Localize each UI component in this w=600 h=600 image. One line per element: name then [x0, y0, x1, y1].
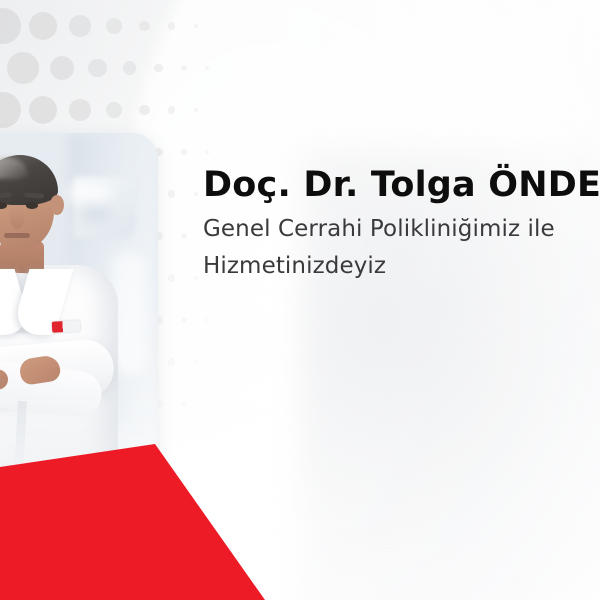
- decorative-dot: [106, 18, 122, 34]
- decorative-dot: [139, 21, 150, 32]
- decorative-dot: [181, 149, 187, 155]
- decorative-dot: [181, 401, 187, 407]
- decorative-dot: [181, 233, 187, 239]
- decorative-dot: [88, 59, 107, 78]
- decorative-dot: [194, 276, 199, 281]
- doctor-nose: [10, 207, 24, 229]
- decorative-dot: [69, 99, 91, 121]
- page-title: Doç. Dr. Tolga ÖNDE: [203, 166, 600, 205]
- decorative-dot: [194, 360, 199, 365]
- decorative-dot: [123, 61, 136, 74]
- decorative-dot: [168, 22, 175, 29]
- decorative-dot: [194, 24, 199, 29]
- doctor-ear: [50, 195, 64, 215]
- decorative-dot: [181, 317, 187, 323]
- decorative-dot: [205, 318, 209, 322]
- decorative-dot: [205, 402, 209, 406]
- doctor-mouth: [4, 233, 30, 238]
- promo-banner: Doç. Dr. Tolga ÖNDE Genel Cerrahi Polikl…: [0, 0, 600, 600]
- decorative-dot: [154, 64, 163, 73]
- doctor-eye-right: [26, 202, 38, 209]
- decorative-dot: [139, 105, 150, 116]
- decorative-dot: [29, 96, 57, 124]
- decorative-dot: [205, 66, 209, 70]
- decorative-dot: [7, 52, 39, 84]
- decorative-dot: [194, 192, 199, 197]
- page-subtitle: Genel Cerrahi Polikliniğimiz ile Hizmeti…: [203, 211, 600, 286]
- decorative-dot: [168, 190, 175, 197]
- decorative-dot: [0, 8, 21, 44]
- doctor-photo-card: [0, 133, 158, 465]
- decorative-dot: [0, 92, 21, 128]
- decorative-dot: [69, 15, 91, 37]
- decorative-dot: [168, 274, 175, 281]
- decorative-dot: [168, 106, 175, 113]
- decorative-dot: [50, 56, 75, 81]
- decorative-dot: [29, 12, 57, 40]
- decorative-dot: [106, 102, 122, 118]
- decorative-dot: [194, 108, 199, 113]
- decorative-dot: [205, 150, 209, 154]
- red-angled-banner: [0, 430, 290, 600]
- decorative-dot: [181, 65, 187, 71]
- photo-bokeh-1: [66, 185, 112, 201]
- photo-bokeh-2: [80, 209, 110, 220]
- decorative-dot: [168, 358, 175, 365]
- clinic-logo-badge: [52, 320, 81, 332]
